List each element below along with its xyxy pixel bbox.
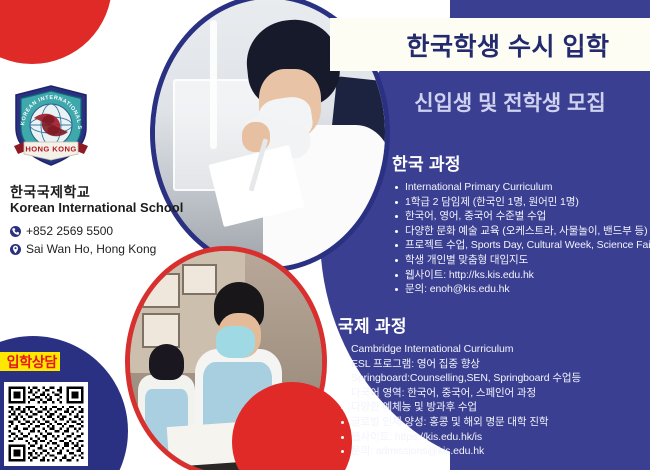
school-name-english: Korean International School xyxy=(10,200,183,215)
list-item: 1학급 2 담임제 (한국인 1명, 원어민 1명) xyxy=(392,195,647,210)
school-name-korean: 한국국제학교 xyxy=(10,182,90,202)
section-korean-curriculum: 한국 과정 International Primary Curriculum 1… xyxy=(392,150,647,297)
list-item: 학생 개인별 맞춤형 대입지도 xyxy=(392,253,647,268)
list-item: 다양한 문화 예술 교육 (오케스트라, 사물놀이, 밴드부 등) xyxy=(392,224,647,239)
school-logo: KOREAN INTERNATIONAL SCHOOL HONG KONG xyxy=(10,84,92,168)
list-item: 글로벌 인재 양성: 홍콩 및 해외 명문 대학 진학 xyxy=(338,415,646,430)
admissions-poster: 한국학생 수시 입학 신입생 및 전학생 모집 KOREAN INTERNATI… xyxy=(0,0,650,470)
page-title: 한국학생 수시 입학 xyxy=(371,27,610,63)
list-item-website[interactable]: 웹사이트: https://kis.edu.hk/is xyxy=(338,430,646,445)
list-item: 프로젝트 수업, Sports Day, Cultural Week, Scie… xyxy=(392,238,647,253)
contact-phone-value: +852 2569 5500 xyxy=(26,224,113,238)
contact-address: Sai Wan Ho, Hong Kong xyxy=(10,242,156,256)
header-banner-secondary: 신입생 및 전학생 모집 xyxy=(330,79,650,125)
list-item-website[interactable]: 웹사이트: http://ks.kis.edu.hk xyxy=(392,268,647,283)
section-international-curriculum: 국제 과정 Cambridge International Curriculum… xyxy=(338,312,646,459)
list-item: 한국어, 영어, 중국어 수준별 수업 xyxy=(392,209,647,224)
list-item: 다양한 예체능 및 방과후 수업 xyxy=(338,400,646,415)
header-banner-primary: 한국학생 수시 입학 xyxy=(330,18,650,71)
qr-code[interactable] xyxy=(4,382,88,466)
list-item: ESL 프로그램: 영어 집중 향상 xyxy=(338,357,646,372)
location-pin-icon xyxy=(10,244,21,255)
red-circle-top-left-decoration xyxy=(0,0,112,64)
list-item: Cambridge International Curriculum xyxy=(338,342,646,357)
list-item: 다국어 영역: 한국어, 중국어, 스페인어 과정 xyxy=(338,386,646,401)
page-subtitle: 신입생 및 전학생 모집 xyxy=(374,87,605,117)
svg-text:HONG KONG: HONG KONG xyxy=(25,145,76,154)
list-item-email[interactable]: 문의: enoh@kis.edu.hk xyxy=(392,282,647,297)
section-title-korean: 한국 과정 xyxy=(392,150,647,175)
contact-phone: +852 2569 5500 xyxy=(10,224,113,238)
list-item: Springboard:Counselling,SEN, Springboard… xyxy=(338,371,646,386)
list-international-curriculum: Cambridge International Curriculum ESL 프… xyxy=(338,342,646,459)
list-item: International Primary Curriculum xyxy=(392,180,647,195)
section-title-international: 국제 과정 xyxy=(338,312,646,337)
list-item-email[interactable]: 문의: admissions@kis.edu.hk xyxy=(338,444,646,459)
admissions-consult-badge[interactable]: 입학상담 xyxy=(0,352,60,371)
phone-icon xyxy=(10,226,21,237)
contact-address-value: Sai Wan Ho, Hong Kong xyxy=(26,242,156,256)
list-korean-curriculum: International Primary Curriculum 1학급 2 담… xyxy=(392,180,647,297)
